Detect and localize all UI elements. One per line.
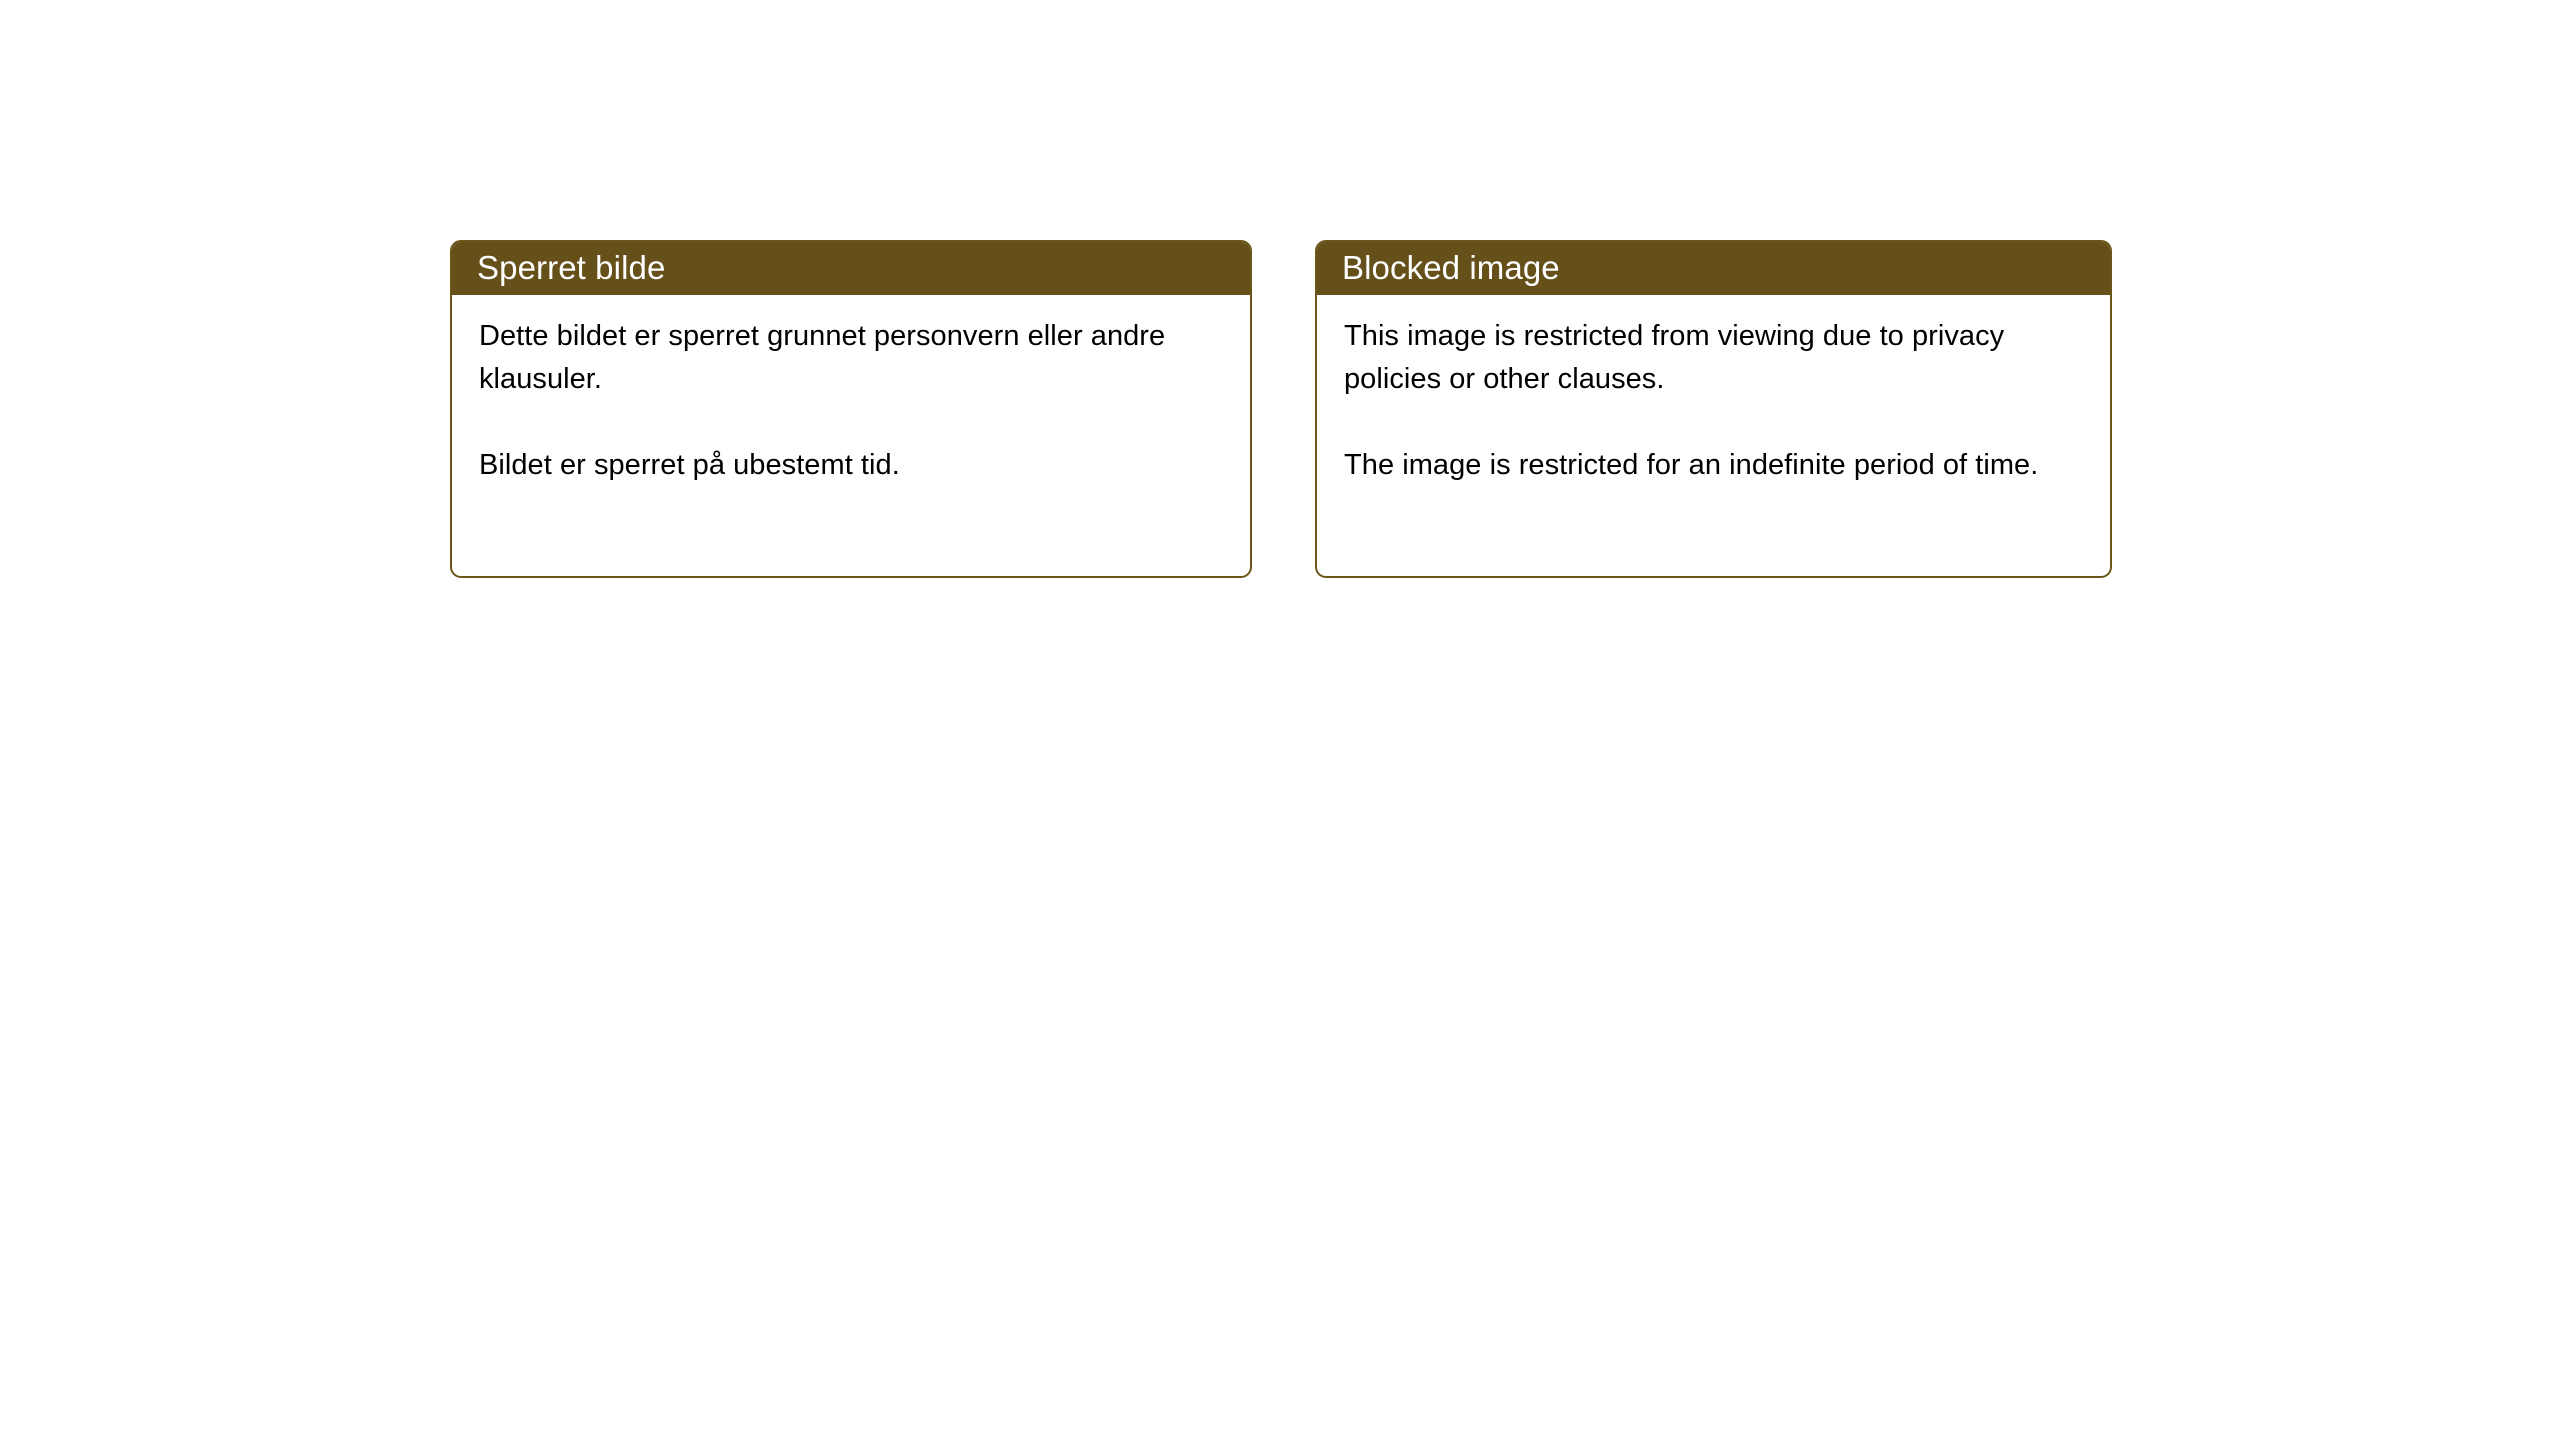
page-canvas: Sperret bilde Dette bildet er sperret gr… xyxy=(0,0,2560,1440)
card-paragraph-restriction-duration-english: The image is restricted for an indefinit… xyxy=(1344,444,2086,487)
card-body-english: This image is restricted from viewing du… xyxy=(1317,295,2110,487)
card-paragraph-restriction-duration-norwegian: Bildet er sperret på ubestemt tid. xyxy=(479,444,1226,487)
card-body-norwegian: Dette bildet er sperret grunnet personve… xyxy=(452,295,1250,487)
blocked-image-notice-card-norwegian: Sperret bilde Dette bildet er sperret gr… xyxy=(450,240,1252,578)
card-header-english: Blocked image xyxy=(1315,240,2112,295)
card-header-norwegian: Sperret bilde xyxy=(450,240,1252,295)
card-title-english: Blocked image xyxy=(1342,249,1560,287)
card-paragraph-restriction-reason-english: This image is restricted from viewing du… xyxy=(1344,315,2086,401)
card-paragraph-restriction-reason-norwegian: Dette bildet er sperret grunnet personve… xyxy=(479,315,1226,401)
blocked-image-notice-card-english: Blocked image This image is restricted f… xyxy=(1315,240,2112,578)
card-title-norwegian: Sperret bilde xyxy=(477,249,665,287)
